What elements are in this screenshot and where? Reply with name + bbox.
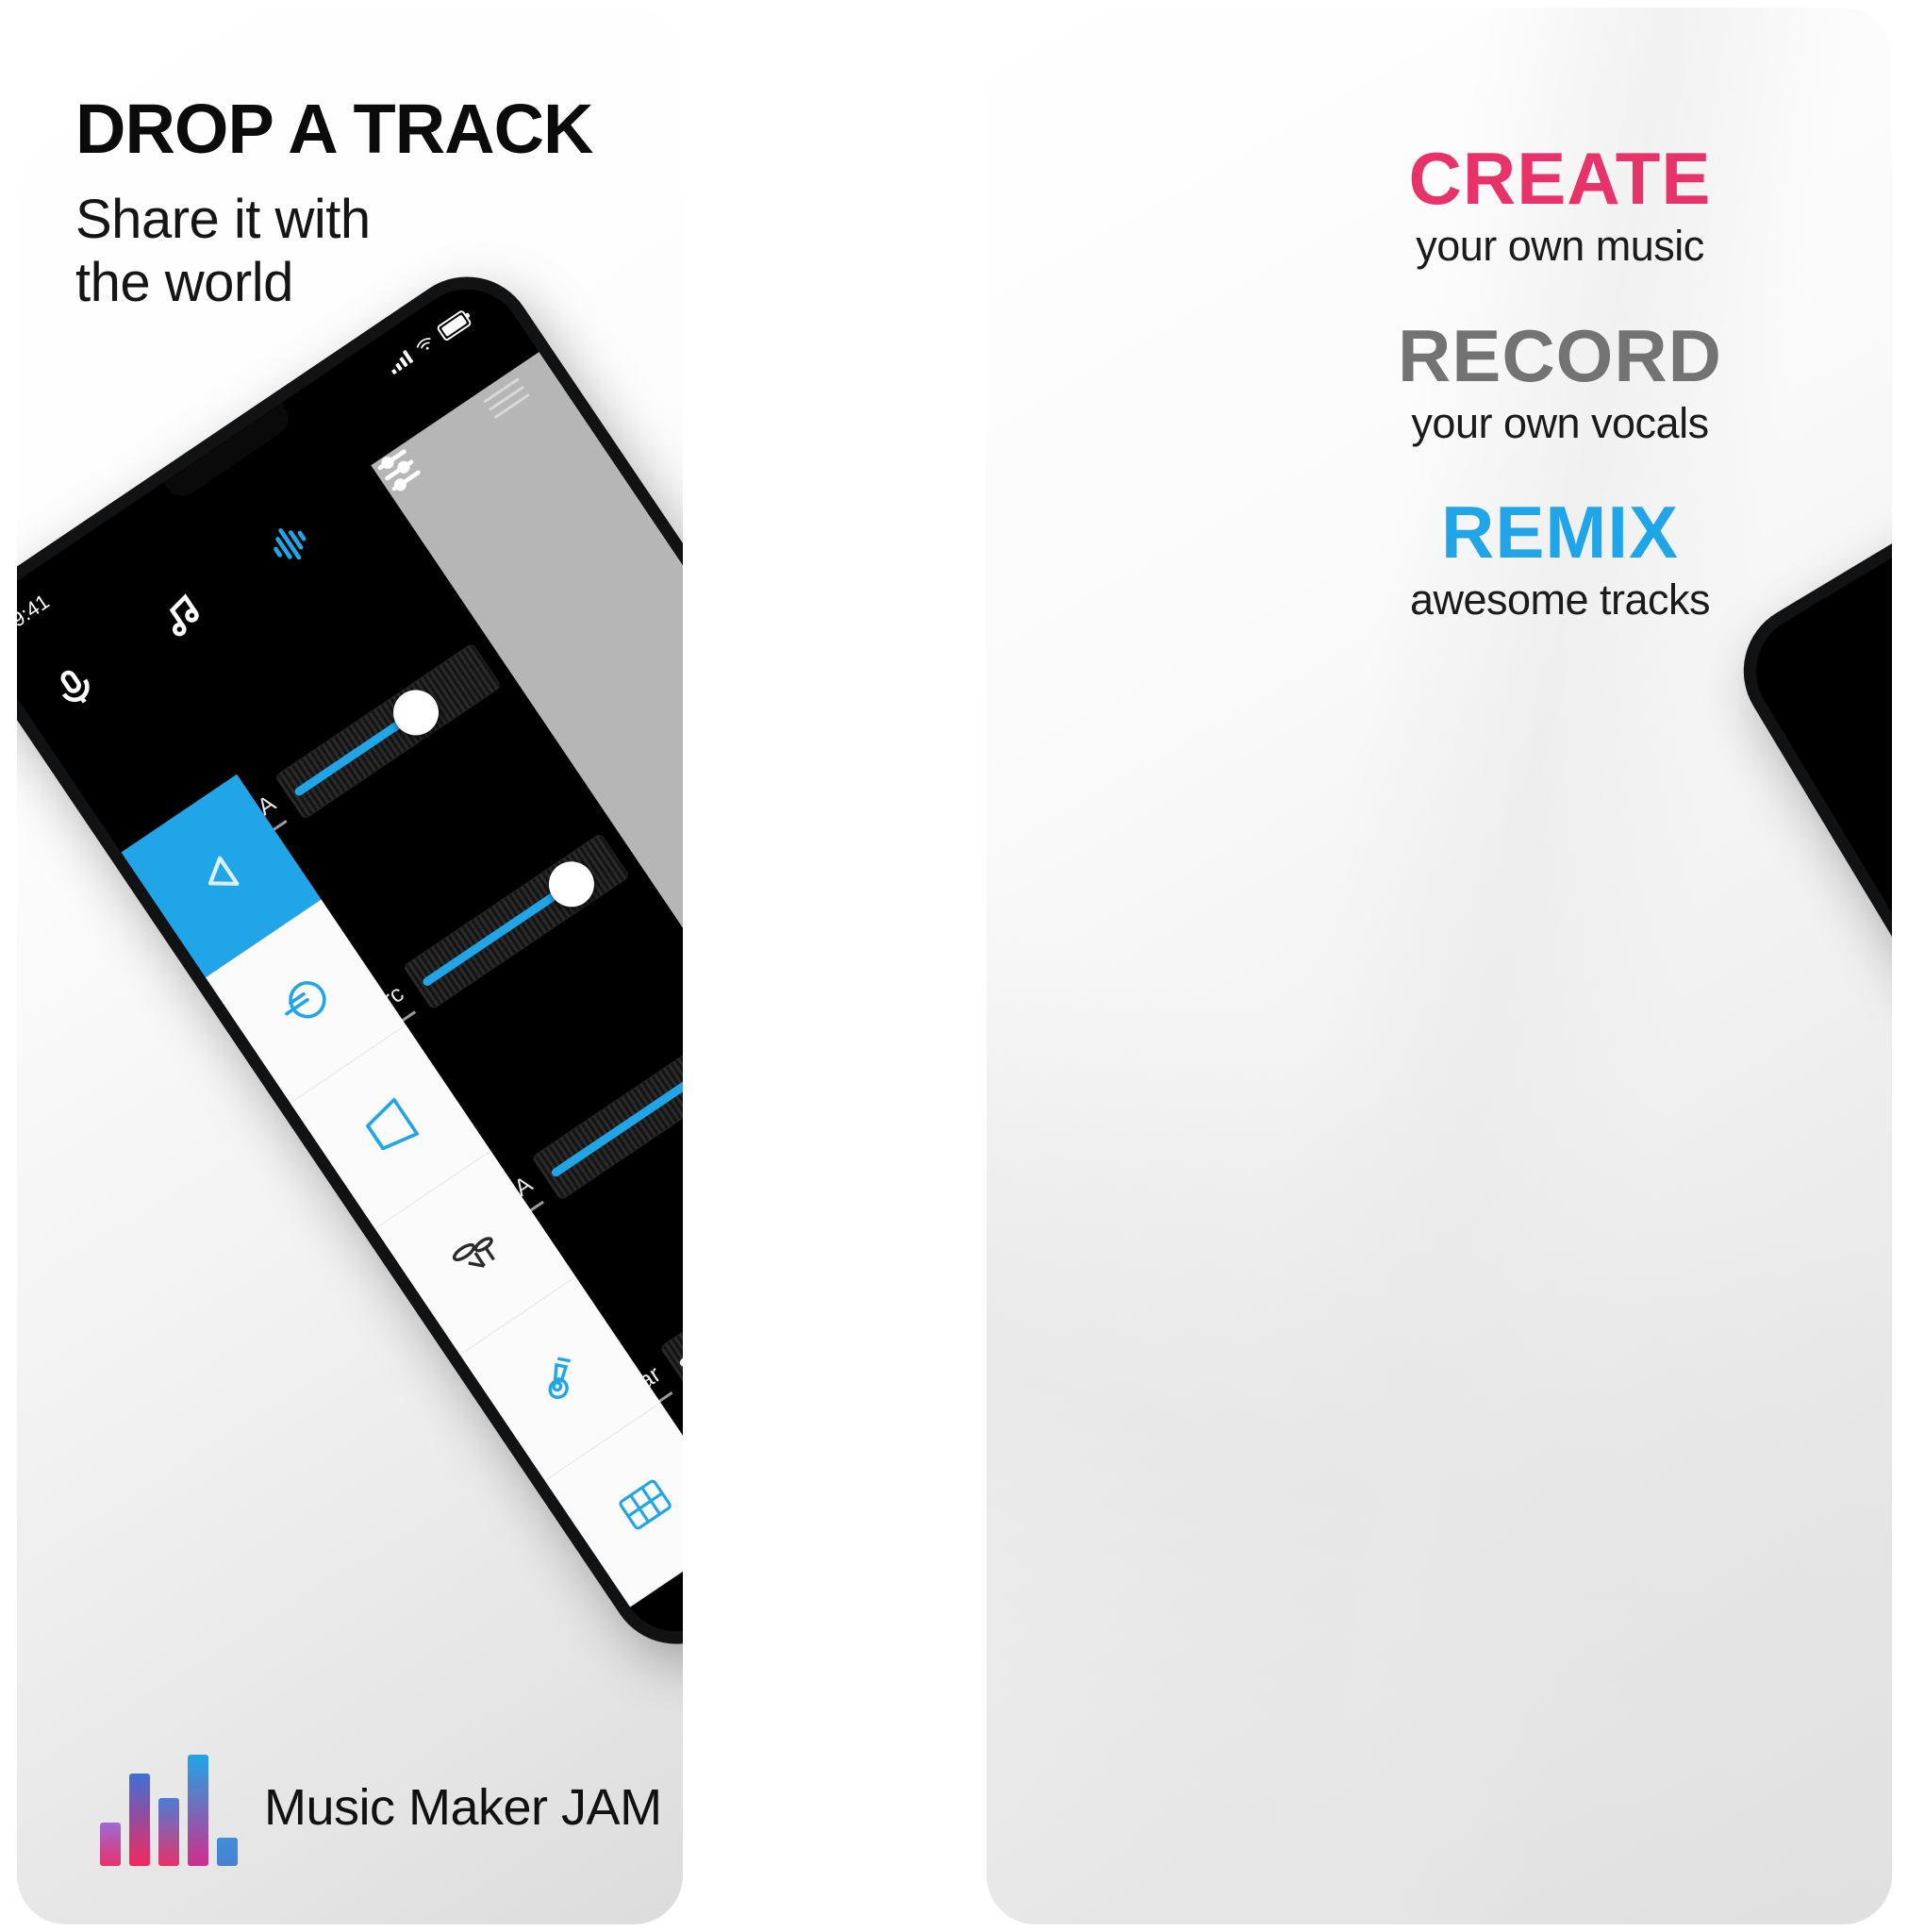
- track-fader[interactable]: [274, 642, 502, 820]
- wifi-icon: [413, 334, 436, 356]
- brand-lockup: Music Maker JAM: [100, 1749, 662, 1866]
- hamburger-menu-icon[interactable]: [483, 377, 529, 419]
- track-fader[interactable]: [531, 1024, 683, 1201]
- left-copy-block: DROP A TRACK Share it with the world: [75, 94, 641, 314]
- mixer-sliders-icon[interactable]: [369, 440, 429, 500]
- equalizer-logo-icon: [100, 1749, 238, 1866]
- feature-remix: REMIX awesome tracks: [1296, 495, 1824, 624]
- waveform-icon[interactable]: [261, 513, 322, 574]
- headphones-icon: [268, 963, 344, 1040]
- app-screen-left: 9:41: [17, 268, 683, 1654]
- phone-mockup-left: 9:41: [17, 250, 683, 1670]
- feature-record: RECORD your own vocals: [1296, 319, 1824, 447]
- feature-subtitle: your own music: [1296, 223, 1824, 270]
- guitar-icon: [523, 1341, 599, 1417]
- feature-title: RECORD: [1296, 319, 1824, 392]
- track-fader[interactable]: [403, 833, 630, 1010]
- battery-icon: [436, 308, 473, 341]
- brand-name: Music Maker JAM: [264, 1778, 662, 1837]
- microphone-icon[interactable]: [45, 658, 106, 719]
- feature-create: CREATE your own music: [1296, 142, 1824, 270]
- screenshot-stage: DROP A TRACK Share it with the world 9:4…: [0, 0, 1908, 1932]
- page-subtitle: Share it with the world: [75, 189, 641, 314]
- play-triangle-icon: [185, 840, 258, 913]
- feature-title: REMIX: [1296, 495, 1824, 569]
- feature-subtitle: awesome tracks: [1296, 576, 1824, 624]
- feature-title: CREATE: [1296, 142, 1824, 215]
- page-title: DROP A TRACK: [75, 94, 641, 164]
- right-copy-block: CREATE your own music RECORD your own vo…: [1296, 142, 1824, 624]
- cellular-signal-icon: [386, 349, 414, 375]
- megaphone-icon: [353, 1089, 429, 1165]
- phone-bezel: 9:41: [17, 268, 683, 1654]
- right-promo-panel: Verse 1 Transition Chorus Verse Synth Da…: [987, 8, 1892, 1924]
- status-time: 9:41: [17, 590, 54, 633]
- left-promo-panel: DROP A TRACK Share it with the world 9:4…: [17, 8, 683, 1924]
- drum-kit-icon: [438, 1215, 514, 1291]
- feature-subtitle: your own vocals: [1296, 400, 1824, 447]
- music-notes-icon[interactable]: [154, 586, 214, 646]
